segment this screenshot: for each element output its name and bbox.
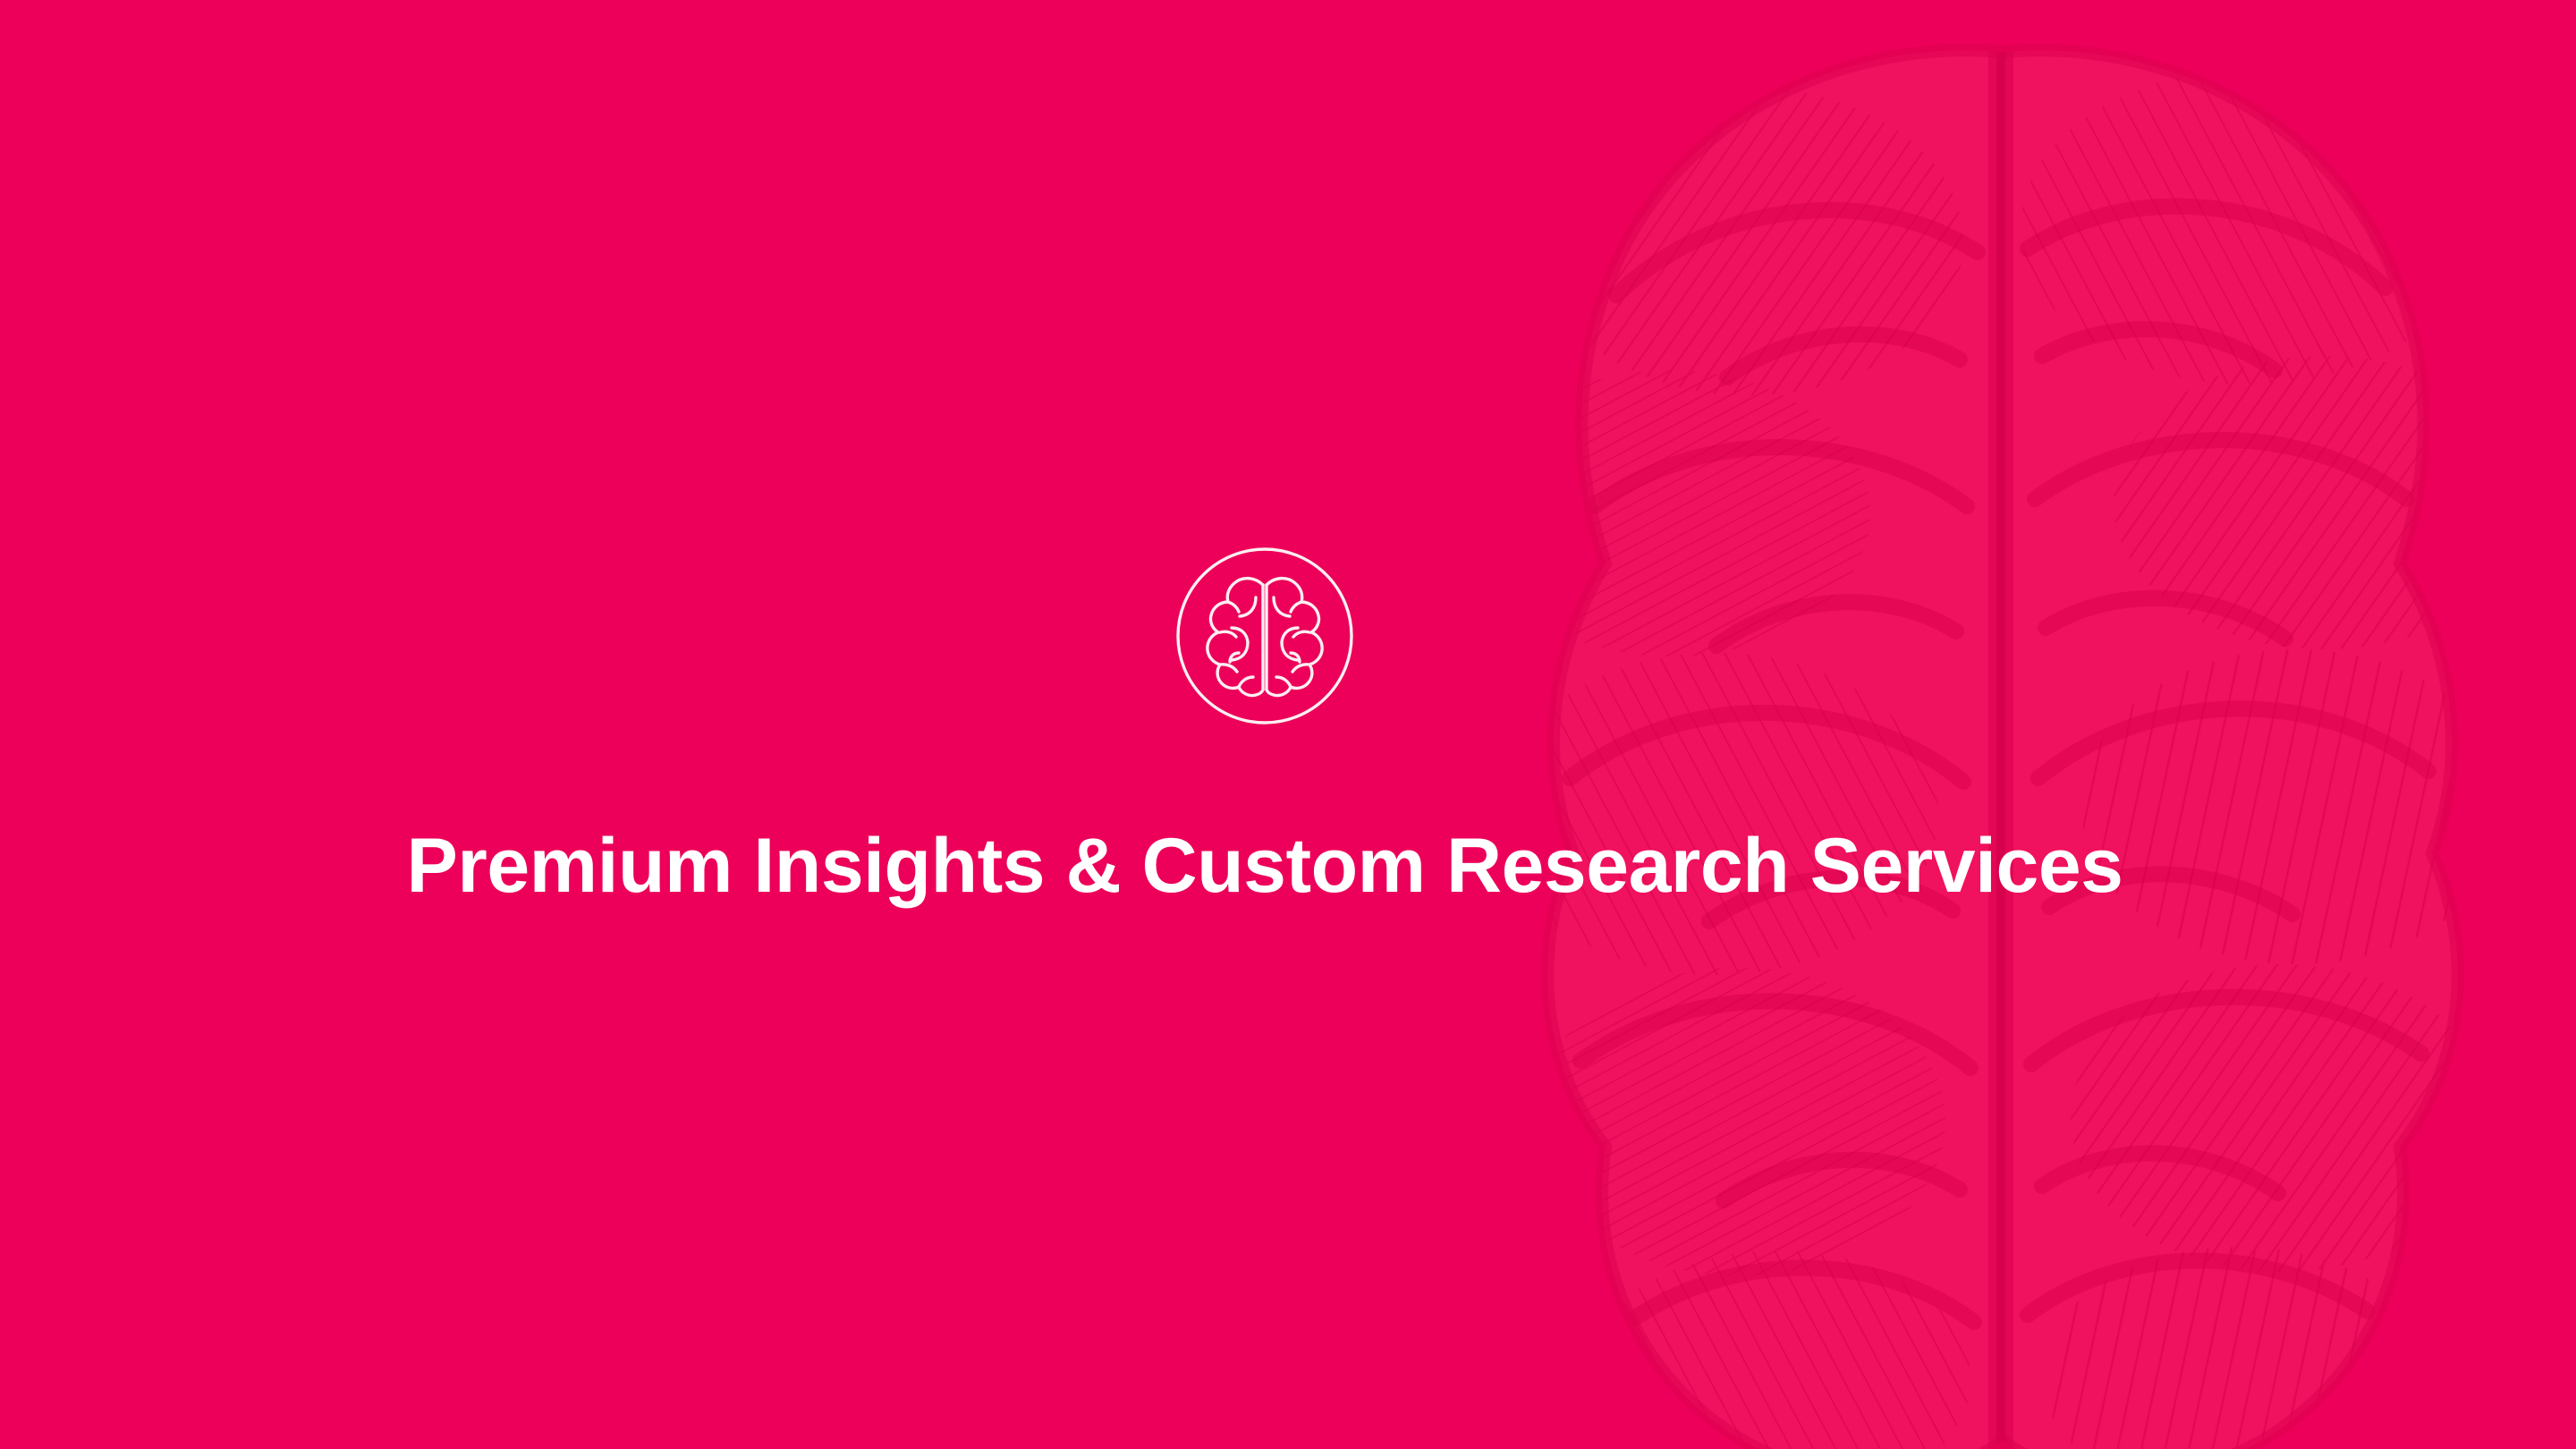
slide-canvas: Premium Insights & Custom Research Servi… — [0, 0, 2576, 1449]
brain-in-circle-icon — [1171, 542, 1359, 730]
page-title: Premium Insights & Custom Research Servi… — [406, 826, 2123, 906]
slide-content: Premium Insights & Custom Research Servi… — [0, 0, 2576, 1449]
